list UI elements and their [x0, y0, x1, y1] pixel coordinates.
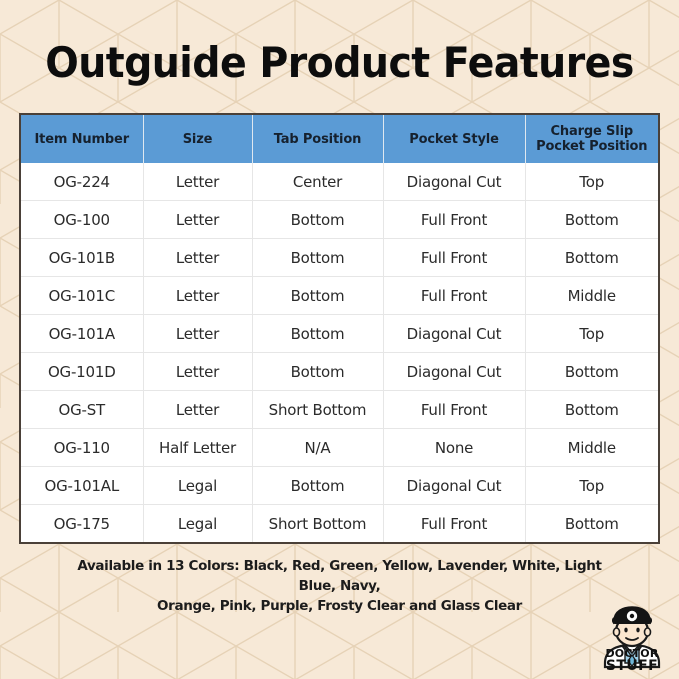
table-row: OG-110Half LetterN/ANoneMiddle [21, 429, 658, 467]
cell-pocket-style: Diagonal Cut [383, 353, 525, 391]
cell-pocket-style: Full Front [383, 277, 525, 315]
column-header-pocket-style: Pocket Style [383, 115, 525, 163]
cell-tab-position: Bottom [252, 315, 383, 353]
table-row: OG-101BLetterBottomFull FrontBottom [21, 239, 658, 277]
color-note-line1: Available in 13 Colors: Black, Red, Gree… [60, 556, 619, 596]
color-note-line2: Orange, Pink, Purple, Frosty Clear and G… [60, 596, 619, 616]
cell-item-number: OG-101A [21, 315, 143, 353]
cell-item-number: OG-175 [21, 505, 143, 543]
cell-size: Legal [143, 505, 252, 543]
cell-charge-slip-pocket-position: Bottom [525, 391, 658, 429]
cell-size: Letter [143, 163, 252, 201]
table-row: OG-100LetterBottomFull FrontBottom [21, 201, 658, 239]
cell-tab-position: Bottom [252, 353, 383, 391]
poster-page: Outguide Product Features Item Number Si… [0, 0, 679, 679]
product-features-table: Item Number Size Tab Position Pocket Sty… [19, 113, 660, 544]
column-header-line2: Pocket Position [536, 139, 647, 154]
color-availability-note: Available in 13 Colors: Black, Red, Gree… [60, 556, 619, 616]
cell-item-number: OG-101C [21, 277, 143, 315]
cell-charge-slip-pocket-position: Top [525, 467, 658, 505]
cell-pocket-style: Full Front [383, 505, 525, 543]
column-header-tab-position: Tab Position [252, 115, 383, 163]
column-header-line1: Pocket Style [409, 132, 499, 147]
cell-charge-slip-pocket-position: Bottom [525, 239, 658, 277]
cell-charge-slip-pocket-position: Middle [525, 277, 658, 315]
cell-pocket-style: Diagonal Cut [383, 163, 525, 201]
cell-item-number: OG-ST [21, 391, 143, 429]
cell-tab-position: N/A [252, 429, 383, 467]
cell-size: Letter [143, 315, 252, 353]
cell-tab-position: Short Bottom [252, 391, 383, 429]
features-table: Item Number Size Tab Position Pocket Sty… [21, 115, 658, 542]
cell-size: Letter [143, 391, 252, 429]
page-title: Outguide Product Features [20, 38, 658, 88]
cell-pocket-style: Diagonal Cut [383, 315, 525, 353]
cell-size: Letter [143, 239, 252, 277]
cell-tab-position: Short Bottom [252, 505, 383, 543]
cell-size: Half Letter [143, 429, 252, 467]
table-row: OG-101ALLegalBottomDiagonal CutTop [21, 467, 658, 505]
cell-pocket-style: Diagonal Cut [383, 467, 525, 505]
cell-item-number: OG-101AL [21, 467, 143, 505]
table-row: OG-101DLetterBottomDiagonal CutBottom [21, 353, 658, 391]
cell-item-number: OG-100 [21, 201, 143, 239]
cell-size: Letter [143, 277, 252, 315]
cell-size: Letter [143, 201, 252, 239]
cell-size: Letter [143, 353, 252, 391]
cell-item-number: OG-110 [21, 429, 143, 467]
doctor-stuff-logo: DOCTOR STUFF [595, 605, 669, 675]
cell-pocket-style: None [383, 429, 525, 467]
cell-tab-position: Bottom [252, 277, 383, 315]
column-header-charge-slip-pocket-position: Charge Slip Pocket Position [525, 115, 658, 163]
cell-charge-slip-pocket-position: Bottom [525, 353, 658, 391]
cell-item-number: OG-101B [21, 239, 143, 277]
cell-pocket-style: Full Front [383, 391, 525, 429]
logo-word-stuff: STUFF [595, 659, 669, 673]
cell-tab-position: Bottom [252, 201, 383, 239]
column-header-line1: Charge Slip [550, 124, 633, 139]
cell-charge-slip-pocket-position: Top [525, 315, 658, 353]
table-row: OG-224LetterCenterDiagonal CutTop [21, 163, 658, 201]
cell-item-number: OG-224 [21, 163, 143, 201]
column-header-size: Size [143, 115, 252, 163]
cell-charge-slip-pocket-position: Top [525, 163, 658, 201]
column-header-line1: Size [183, 132, 213, 147]
table-row: OG-101ALetterBottomDiagonal CutTop [21, 315, 658, 353]
table-row: OG-101CLetterBottomFull FrontMiddle [21, 277, 658, 315]
column-header-line1: Tab Position [274, 132, 362, 147]
column-header-line1: Item Number [34, 132, 129, 147]
cell-pocket-style: Full Front [383, 201, 525, 239]
table-row: OG-STLetterShort BottomFull FrontBottom [21, 391, 658, 429]
table-row: OG-175LegalShort BottomFull FrontBottom [21, 505, 658, 543]
column-header-item-number: Item Number [21, 115, 143, 163]
cell-tab-position: Bottom [252, 467, 383, 505]
cell-charge-slip-pocket-position: Bottom [525, 201, 658, 239]
cell-item-number: OG-101D [21, 353, 143, 391]
cell-pocket-style: Full Front [383, 239, 525, 277]
cell-size: Legal [143, 467, 252, 505]
cell-tab-position: Bottom [252, 239, 383, 277]
table-header-row: Item Number Size Tab Position Pocket Sty… [21, 115, 658, 163]
cell-tab-position: Center [252, 163, 383, 201]
table-head: Item Number Size Tab Position Pocket Sty… [21, 115, 658, 163]
cell-charge-slip-pocket-position: Bottom [525, 505, 658, 543]
cell-charge-slip-pocket-position: Middle [525, 429, 658, 467]
table-body: OG-224LetterCenterDiagonal CutTopOG-100L… [21, 163, 658, 542]
